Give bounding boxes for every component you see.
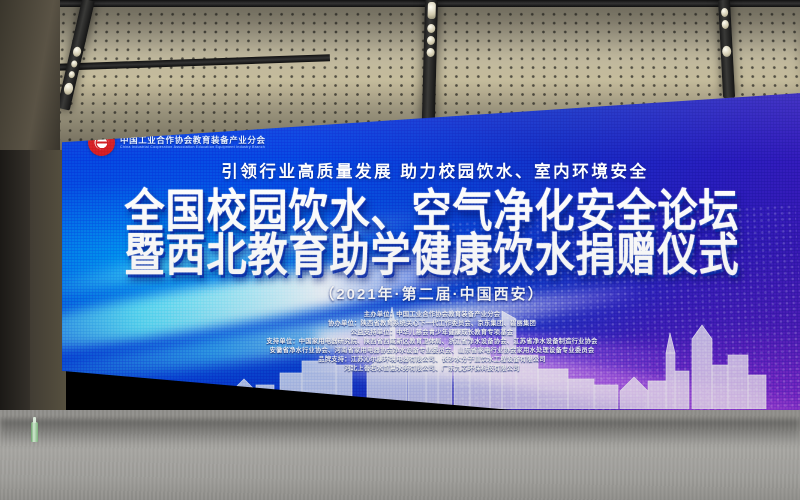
stage-base-shadow (0, 419, 800, 445)
ceiling-lamp-icon (722, 46, 732, 57)
ceiling-lamp-icon (62, 82, 73, 96)
ceiling-lamp-icon (722, 20, 729, 29)
ceiling-lamp-icon (427, 2, 435, 19)
water-bottle (31, 422, 38, 442)
ceiling-lamp-icon (426, 36, 434, 45)
conference-hall-photo: 中国工业合作协会教育装备产业分会 China Industrial Cooper… (0, 0, 800, 500)
led-video-wall: 中国工业合作协会教育装备产业分会 China Industrial Cooper… (62, 93, 800, 461)
led-background-gradient: 中国工业合作协会教育装备产业分会 China Industrial Cooper… (62, 93, 800, 461)
led-vignette (62, 93, 800, 461)
ceiling-lamp-icon (72, 46, 82, 58)
ceiling-rail-top (0, 0, 800, 7)
ceiling-lamp-icon (70, 60, 77, 68)
ceiling-lamp-icon (721, 8, 728, 17)
ceiling-lamp-icon (68, 70, 75, 78)
left-wall-dark-panel (0, 150, 30, 435)
ceiling-lamp-icon (426, 48, 434, 57)
ceiling-lamp-icon (427, 24, 435, 33)
